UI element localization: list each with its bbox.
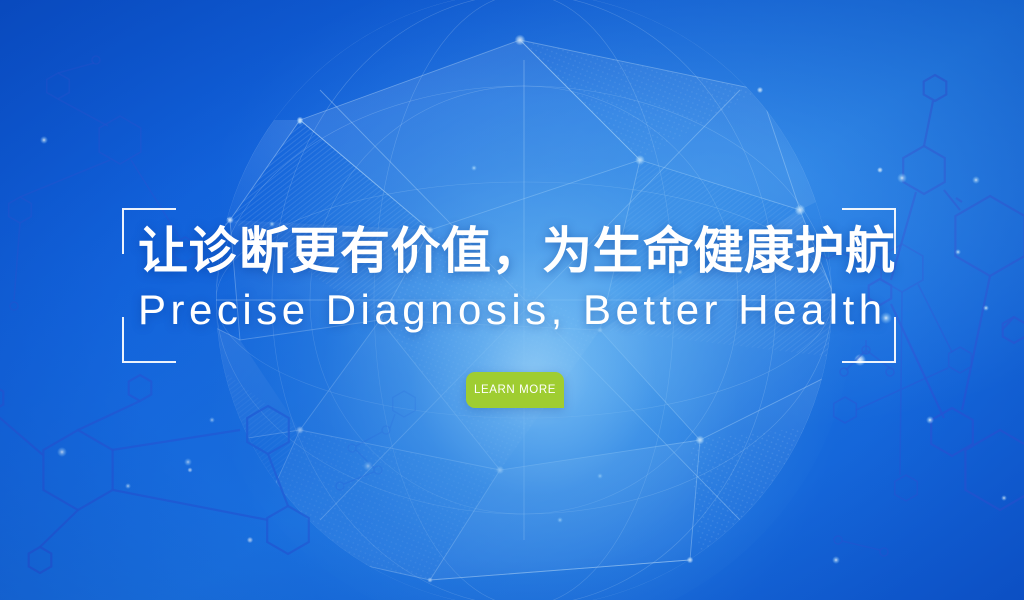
hero-banner: 让诊断更有价值，为生命健康护航 Precise Diagnosis, Bette… (0, 0, 1024, 600)
hero-text-frame: 让诊断更有价值，为生命健康护航 Precise Diagnosis, Bette… (122, 208, 896, 363)
learn-more-button[interactable]: LEARN MORE (466, 372, 564, 408)
headline-english: Precise Diagnosis, Better Health (138, 284, 887, 336)
headline-chinese: 让诊断更有价值，为生命健康护航 (138, 222, 896, 280)
